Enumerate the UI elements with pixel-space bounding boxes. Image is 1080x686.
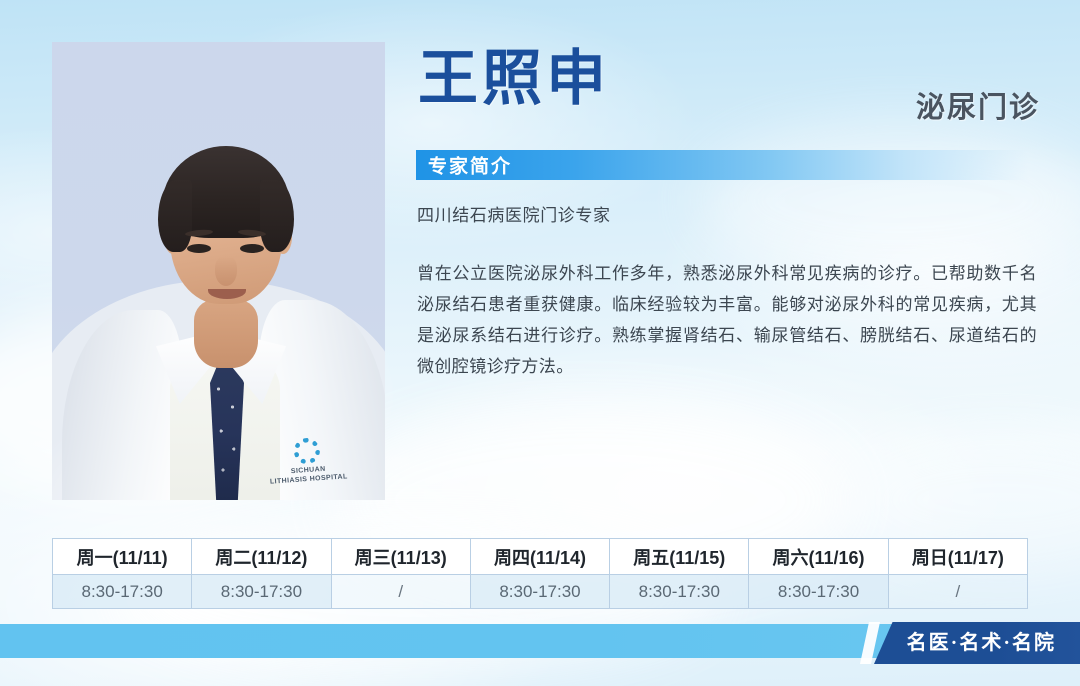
footer-slogan: 名医·名术·名院 <box>907 622 1056 664</box>
section-header-label: 专家简介 <box>428 152 512 179</box>
doctor-photo: SICHUAN LITHIASIS HOSPITAL <box>52 42 385 500</box>
schedule-time-cell: 8:30-17:30 <box>470 575 609 609</box>
schedule-day-header: 周六(11/16) <box>749 539 888 575</box>
schedule-day-header: 周三(11/13) <box>331 539 470 575</box>
schedule-time-cell: / <box>888 575 1027 609</box>
schedule-time-cell: 8:30-17:30 <box>53 575 192 609</box>
doctor-title-line: 四川结石病医院门诊专家 <box>417 201 611 226</box>
hair <box>162 146 290 238</box>
doctor-name: 王照申 <box>418 46 610 112</box>
eye-right <box>240 244 264 253</box>
schedule-day-header: 周二(11/12) <box>192 539 331 575</box>
schedule-time-cell: 8:30-17:30 <box>610 575 749 609</box>
doctor-biography: 曾在公立医院泌尿外科工作多年，熟悉泌尿外科常见疾病的诊疗。已帮助数千名泌尿结石患… <box>417 258 1037 382</box>
schedule-day-header: 周一(11/11) <box>53 539 192 575</box>
footer-banner: 名医·名术·名院 <box>0 610 1080 686</box>
section-header-bar: 专家简介 <box>416 150 1028 180</box>
schedule-time-row: 8:30-17:30 8:30-17:30 / 8:30-17:30 8:30-… <box>53 575 1028 609</box>
schedule-time-cell: 8:30-17:30 <box>749 575 888 609</box>
schedule-day-header: 周日(11/17) <box>888 539 1027 575</box>
schedule-header-row: 周一(11/11) 周二(11/12) 周三(11/13) 周四(11/14) … <box>53 539 1028 575</box>
doctor-portrait-illustration: SICHUAN LITHIASIS HOSPITAL <box>52 42 385 500</box>
weekly-schedule-table: 周一(11/11) 周二(11/12) 周三(11/13) 周四(11/14) … <box>52 538 1028 609</box>
nose <box>215 256 237 286</box>
eye-left <box>187 244 211 253</box>
department-label: 泌尿门诊 <box>916 84 1040 126</box>
schedule-day-header: 周五(11/15) <box>610 539 749 575</box>
doctor-profile-poster: SICHUAN LITHIASIS HOSPITAL 王照申 泌尿门诊 专家简介… <box>0 0 1080 686</box>
neck <box>194 300 258 368</box>
hospital-ring-icon <box>293 437 321 465</box>
schedule-time-cell: / <box>331 575 470 609</box>
schedule-day-header: 周四(11/14) <box>470 539 609 575</box>
hospital-logo-badge: SICHUAN LITHIASIS HOSPITAL <box>258 435 358 500</box>
schedule-time-cell: 8:30-17:30 <box>192 575 331 609</box>
cloud-decoration <box>700 120 1080 280</box>
